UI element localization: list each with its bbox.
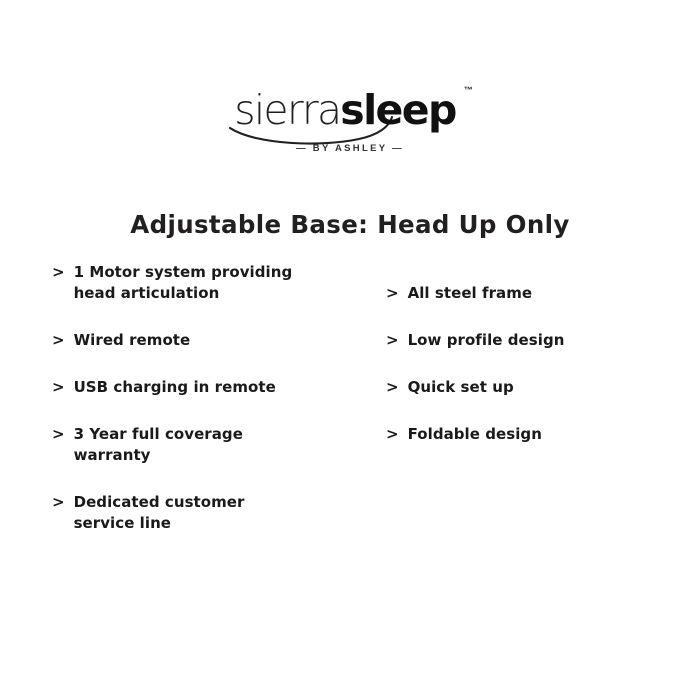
brand-word-sierra: sierra — [234, 86, 340, 134]
feature-item: >Wired remote — [52, 330, 190, 351]
chevron-right-icon: > — [386, 377, 399, 398]
chevron-right-icon: > — [52, 424, 65, 445]
brand-word-sleep: sleep — [340, 86, 455, 134]
chevron-right-icon: > — [386, 330, 399, 351]
feature-item-label: Low profile design — [408, 330, 565, 351]
chevron-right-icon: > — [52, 262, 65, 283]
sierra-sleep-logo: sierrasleep ™ — [228, 88, 471, 132]
feature-list: >1 Motor system providing head articulat… — [0, 255, 700, 555]
feature-item: >Quick set up — [386, 377, 514, 398]
feature-item: >3 Year full coverage warranty — [52, 424, 243, 466]
chevron-right-icon: > — [386, 424, 399, 445]
trademark-icon: ™ — [464, 86, 473, 95]
feature-item-label: 3 Year full coverage warranty — [74, 424, 243, 466]
feature-item-label: USB charging in remote — [74, 377, 276, 398]
feature-item-label: All steel frame — [408, 283, 533, 304]
feature-item: >Dedicated customer service line — [52, 492, 244, 534]
feature-item-label: Quick set up — [408, 377, 514, 398]
brand-logo-block: sierrasleep ™ — BY ASHLEY — — [0, 88, 700, 154]
feature-item: >Foldable design — [386, 424, 542, 445]
feature-item-label: 1 Motor system providing head articulati… — [74, 262, 293, 304]
feature-item: >1 Motor system providing head articulat… — [52, 262, 292, 304]
feature-item: >All steel frame — [386, 283, 532, 304]
brand-tagline: — BY ASHLEY — — [0, 143, 700, 154]
chevron-right-icon: > — [386, 283, 399, 304]
feature-item-label: Foldable design — [408, 424, 542, 445]
page-title: Adjustable Base: Head Up Only — [0, 210, 700, 239]
feature-sheet-page: sierrasleep ™ — BY ASHLEY — Adjustable B… — [0, 0, 700, 700]
chevron-right-icon: > — [52, 377, 65, 398]
feature-item: >USB charging in remote — [52, 377, 276, 398]
feature-item: >Low profile design — [386, 330, 564, 351]
feature-item-label: Wired remote — [74, 330, 191, 351]
chevron-right-icon: > — [52, 492, 65, 513]
brand-wordmark: sierrasleep — [234, 88, 455, 132]
feature-item-label: Dedicated customer service line — [74, 492, 245, 534]
chevron-right-icon: > — [52, 330, 65, 351]
